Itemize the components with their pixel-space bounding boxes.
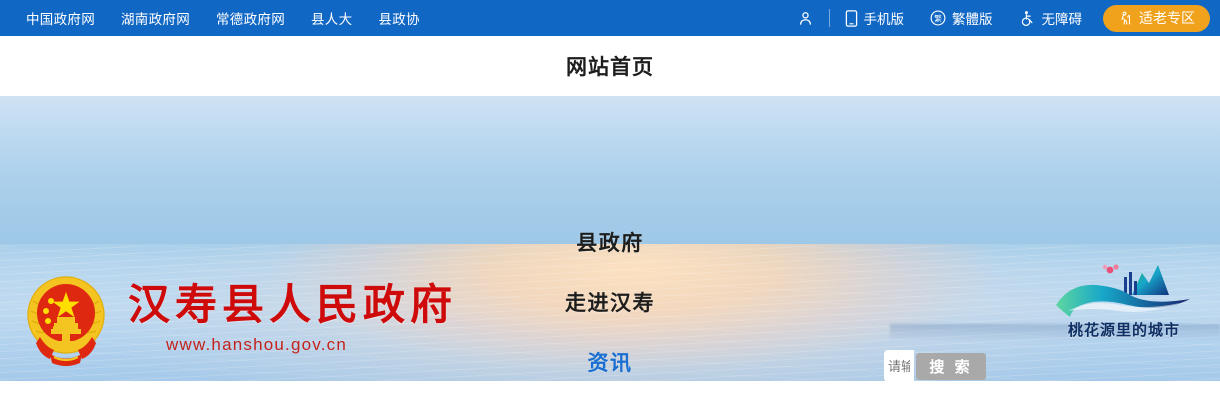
page-title-bar: 网站首页 bbox=[0, 36, 1220, 96]
mobile-version-button[interactable]: 手机版 bbox=[832, 0, 918, 36]
elderly-icon bbox=[1118, 11, 1133, 26]
elderly-zone-button[interactable]: 适老专区 bbox=[1103, 5, 1210, 32]
search-button[interactable]: 搜 索 bbox=[916, 353, 986, 380]
nav-county-government[interactable]: 县政府 bbox=[576, 214, 644, 274]
link-changde-gov[interactable]: 常德政府网 bbox=[216, 8, 285, 28]
link-hunan-gov[interactable]: 湖南政府网 bbox=[121, 8, 190, 28]
page-body-area bbox=[0, 381, 1220, 400]
toolbar-divider bbox=[829, 9, 830, 27]
person-icon bbox=[797, 10, 814, 27]
hero-banner: 汉寿县人民政府 www.hanshou.gov.cn 县政府 走进汉寿 资讯 政… bbox=[0, 96, 1220, 381]
nav-news[interactable]: 资讯 bbox=[588, 334, 633, 381]
city-mountain-wave-logo-icon bbox=[1048, 261, 1200, 321]
accessibility-label: 无障碍 bbox=[1042, 8, 1083, 28]
traditional-chinese-icon: 繁 bbox=[930, 10, 946, 26]
accessibility-button[interactable]: 无障碍 bbox=[1006, 0, 1096, 36]
main-menu: 县政府 走进汉寿 资讯 政府信息公开 解读 bbox=[0, 192, 1220, 381]
search-input[interactable] bbox=[884, 350, 914, 381]
link-china-gov[interactable]: 中国政府网 bbox=[26, 8, 95, 28]
traditional-version-label: 繁體版 bbox=[952, 8, 993, 28]
top-tools: 手机版 繁 繁體版 bbox=[784, 0, 1211, 36]
traditional-version-button[interactable]: 繁 繁體版 bbox=[917, 0, 1006, 36]
search-box: 搜 索 bbox=[884, 350, 986, 381]
page-root: 中国政府网 湖南政府网 常德政府网 县人大 县政协 bbox=[0, 0, 1220, 400]
city-brand-slogan: 桃花源里的城市 bbox=[1048, 319, 1200, 340]
top-navigation-bar: 中国政府网 湖南政府网 常德政府网 县人大 县政协 bbox=[0, 0, 1220, 36]
user-login-button[interactable] bbox=[784, 0, 827, 36]
link-county-npc[interactable]: 县人大 bbox=[311, 8, 352, 28]
link-county-cppcc[interactable]: 县政协 bbox=[378, 8, 419, 28]
city-brand-logo: 桃花源里的城市 bbox=[1048, 261, 1200, 353]
accessibility-icon bbox=[1019, 10, 1036, 27]
top-external-links: 中国政府网 湖南政府网 常德政府网 县人大 县政协 bbox=[0, 8, 420, 28]
mobile-version-label: 手机版 bbox=[864, 8, 905, 28]
svg-text:繁: 繁 bbox=[934, 13, 942, 23]
nav-about-hanshou[interactable]: 走进汉寿 bbox=[565, 274, 655, 334]
page-title: 网站首页 bbox=[566, 51, 654, 81]
mobile-icon bbox=[845, 10, 858, 27]
elderly-zone-label: 适老专区 bbox=[1139, 8, 1195, 28]
